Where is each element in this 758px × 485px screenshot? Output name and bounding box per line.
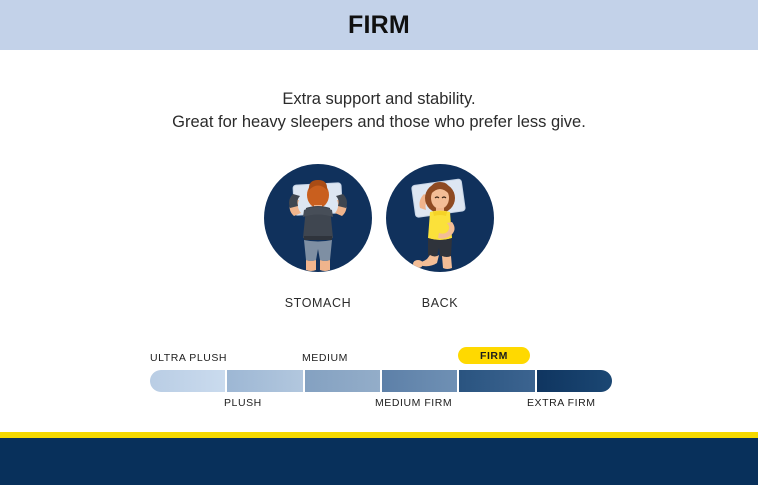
scale-label-plush: PLUSH bbox=[224, 397, 262, 409]
scale-label-medium: MEDIUM bbox=[302, 352, 348, 364]
position-label: BACK bbox=[422, 296, 458, 310]
position-label: STOMACH bbox=[285, 296, 351, 310]
scale-selected-badge[interactable]: FIRM bbox=[458, 347, 530, 364]
subtitle: Extra support and stability. Great for h… bbox=[0, 88, 758, 134]
sleep-positions: STOMACH bbox=[0, 164, 758, 310]
scale-segment-extra-firm[interactable] bbox=[537, 370, 612, 392]
sleeper-stomach-icon bbox=[264, 164, 372, 272]
position-stomach[interactable]: STOMACH bbox=[264, 164, 372, 310]
scale-segment-plush[interactable] bbox=[227, 370, 304, 392]
scale-label-extra-firm: EXTRA FIRM bbox=[527, 397, 596, 409]
scale-segment-medium[interactable] bbox=[305, 370, 382, 392]
scale-segment-firm[interactable] bbox=[459, 370, 536, 392]
scale-segment-medium-firm[interactable] bbox=[382, 370, 459, 392]
page-title: FIRM bbox=[348, 11, 410, 40]
subtitle-line-1: Extra support and stability. bbox=[0, 88, 758, 111]
slide-root: FIRM Extra support and stability. Great … bbox=[0, 0, 758, 485]
firmness-scale[interactable]: ULTRA PLUSH MEDIUM FIRM PLUSH MEDIUM FIR… bbox=[150, 350, 612, 412]
firmness-scale-bar[interactable] bbox=[150, 370, 612, 392]
scale-label-ultra-plush: ULTRA PLUSH bbox=[150, 352, 227, 364]
subtitle-line-2: Great for heavy sleepers and those who p… bbox=[0, 111, 758, 134]
scale-segment-ultra-plush[interactable] bbox=[150, 370, 227, 392]
position-back[interactable]: BACK bbox=[386, 164, 494, 310]
header-band: FIRM bbox=[0, 0, 758, 50]
sleeper-back-icon bbox=[386, 164, 494, 272]
scale-label-medium-firm: MEDIUM FIRM bbox=[375, 397, 452, 409]
footer-band: Serta bbox=[0, 438, 758, 485]
